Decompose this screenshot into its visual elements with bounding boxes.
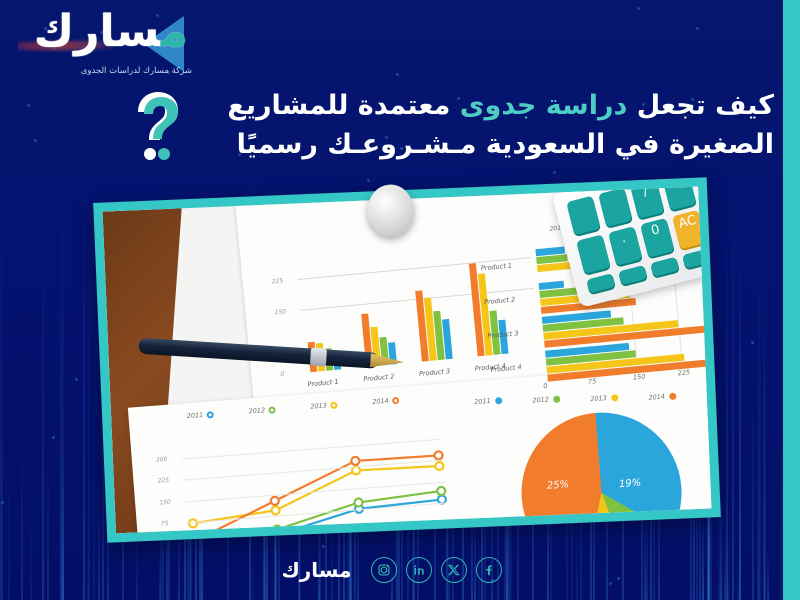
calculator-key xyxy=(598,187,633,227)
pie-disc xyxy=(516,407,688,534)
right-accent-band xyxy=(783,0,800,600)
legend-swatch xyxy=(494,397,502,405)
x-tick-label: 225 xyxy=(677,368,690,377)
y-tick-label: 75 xyxy=(161,520,169,528)
legend-label: 2014 xyxy=(648,393,665,402)
logo-wordmark-rest: سارك xyxy=(34,6,161,57)
bg-dot xyxy=(637,7,640,10)
legend-label: 2012 xyxy=(248,406,265,415)
headline-line1-before: كيف تجعل xyxy=(627,90,774,121)
logo-wordmark-lead: م xyxy=(161,6,188,57)
legend-swatch xyxy=(669,392,677,400)
data-point xyxy=(435,462,444,471)
y-tick-label: 225 xyxy=(157,477,169,485)
calculator-key-label: AC xyxy=(672,210,703,236)
legend-swatch xyxy=(268,406,276,414)
bar-group xyxy=(415,288,453,361)
calculator-key: AC xyxy=(672,210,707,250)
calculator-key: . xyxy=(608,226,643,266)
x-tick-label: 0 xyxy=(543,382,548,390)
category-label: Product 2 xyxy=(484,295,516,306)
legend-label: 2011 xyxy=(474,397,491,406)
headline-line-2: الصغيرة في السعودية مـشـروعـك رسميًا xyxy=(134,125,774,164)
y-tick-label: 300 xyxy=(156,456,168,464)
data-point xyxy=(354,498,363,507)
legend-item: 2012 xyxy=(532,395,560,405)
headline: كيف تجعل دراسة جدوى معتمدة للمشاريع الصغ… xyxy=(134,86,774,164)
legend-item: 2014 xyxy=(648,392,676,402)
social-linkedin-icon[interactable] xyxy=(406,557,432,583)
calculator-key xyxy=(576,234,611,274)
logo-wordmark: مسارك xyxy=(34,10,188,54)
calculator-key: 0 xyxy=(640,218,675,258)
calculator-key-label xyxy=(650,257,676,264)
calculator-key-label xyxy=(598,187,624,194)
bg-dot xyxy=(553,171,556,174)
legend-swatch xyxy=(330,401,338,409)
bg-dot xyxy=(27,104,30,107)
company-logo[interactable]: مسارك شركة مسارك لدراسات الجدوى xyxy=(16,8,206,80)
legend-label: 2014 xyxy=(372,397,389,406)
calculator-key xyxy=(650,257,680,277)
calculator-key xyxy=(682,248,712,268)
headline-line-1: كيف تجعل دراسة جدوى معتمدة للمشاريع xyxy=(134,86,774,125)
bg-streak xyxy=(759,159,761,600)
legend-label: 2013 xyxy=(310,401,327,410)
bg-dot xyxy=(396,73,399,76)
calculator-key xyxy=(662,187,697,211)
y-tick-label: 150 xyxy=(274,308,286,316)
hero-photo-card: 0150225Product 1Product 2Product 3Produc… xyxy=(93,177,721,542)
data-point xyxy=(351,457,360,466)
legend-item: 2013 xyxy=(590,393,618,403)
headline-highlight: دراسة جدوى xyxy=(460,90,628,121)
logo-subtitle: شركة مسارك لدراسات الجدوى xyxy=(81,66,192,76)
calculator-key-label: . xyxy=(608,226,639,252)
calculator-key xyxy=(618,265,648,285)
data-point xyxy=(273,525,282,533)
social-x-icon[interactable] xyxy=(441,557,467,583)
bg-dot xyxy=(75,378,78,381)
data-point xyxy=(437,487,446,496)
legend-label: 2012 xyxy=(532,395,549,404)
pie-slice-label: 19% xyxy=(619,478,642,491)
social-facebook-icon[interactable] xyxy=(476,557,502,583)
calculator-key xyxy=(586,273,616,293)
calculator-key xyxy=(566,196,601,236)
calculator-key: / xyxy=(630,187,665,219)
legend-item: 2011 xyxy=(474,396,502,406)
calculator-key-label xyxy=(586,273,612,280)
data-point xyxy=(434,451,443,460)
headline-line1-after: معتمدة للمشاريع xyxy=(227,90,459,121)
calculator-key-label xyxy=(618,265,644,272)
chart-pie: 201120122013201419%25% xyxy=(460,380,712,533)
calculator-key-label: / xyxy=(630,187,661,206)
data-point xyxy=(273,530,282,533)
footer-brand-name: مسارك xyxy=(281,558,351,582)
y-tick-label: 225 xyxy=(271,277,283,285)
calculator-key-label xyxy=(566,196,592,203)
x-tick-label: 150 xyxy=(633,372,646,381)
data-point xyxy=(271,497,280,506)
chart-line: 201120122013201475150225300 xyxy=(153,393,454,534)
category-label: Product 3 xyxy=(487,329,519,340)
calculator-key-label: 0 xyxy=(640,218,671,244)
line-series xyxy=(190,464,442,523)
data-point xyxy=(271,506,280,515)
legend-label: 2013 xyxy=(590,394,607,403)
bg-dot xyxy=(751,341,754,344)
pen-grip-ring xyxy=(310,347,327,366)
bg-dot xyxy=(52,436,55,439)
bg-dot xyxy=(34,139,37,142)
social-instagram-icon[interactable] xyxy=(371,557,397,583)
legend-swatch xyxy=(391,396,399,404)
hero-photo: 0150225Product 1Product 2Product 3Produc… xyxy=(103,187,712,534)
pie-slice-label: 25% xyxy=(546,479,569,492)
legend-label: 2011 xyxy=(186,411,203,420)
legend-swatch xyxy=(206,411,214,419)
bg-streak xyxy=(732,178,734,600)
bg-dot xyxy=(367,179,370,182)
x-tick-label: 75 xyxy=(588,377,597,386)
calculator-key-label xyxy=(576,234,602,241)
y-tick-label: 0 xyxy=(280,371,284,378)
bg-streak xyxy=(83,175,85,600)
bg-dot xyxy=(696,27,699,30)
legend-swatch xyxy=(611,394,619,402)
legend-swatch xyxy=(553,395,561,403)
footer: مسارك xyxy=(0,540,783,600)
category-label: Product 1 xyxy=(481,262,513,273)
y-tick-label: 150 xyxy=(159,499,171,507)
question-mark-icon xyxy=(128,88,184,166)
category-label: Product 4 xyxy=(490,363,522,374)
calculator-key-label xyxy=(682,248,708,255)
